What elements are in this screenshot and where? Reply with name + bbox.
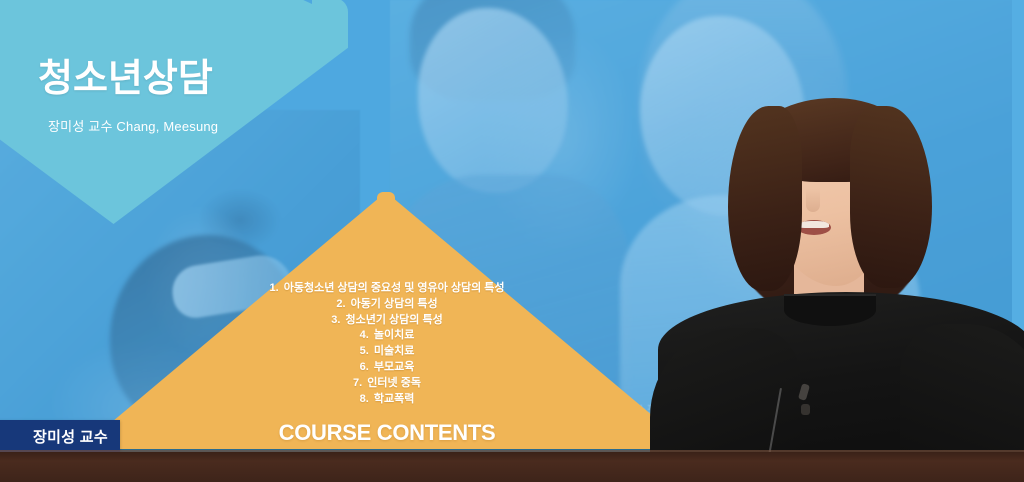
presenter-hair-left <box>728 106 802 291</box>
microphone-head <box>801 404 810 415</box>
course-contents-item-number: 1. <box>270 282 279 294</box>
course-contents-item: 8. 학교폭력 <box>232 392 542 408</box>
course-contents-heading: COURSE CONTENTS <box>232 420 542 446</box>
course-contents-item: 7. 인터넷 중독 <box>232 376 542 392</box>
course-contents-item-text: 아동청소년 상담의 중요성 및 영유아 상담의 특성 <box>281 282 505 294</box>
course-contents-item-number: 3. <box>331 314 340 326</box>
course-contents-item: 5. 미술치료 <box>232 344 542 360</box>
desk-surface <box>0 452 1024 482</box>
slide-title: 청소년상담 <box>38 57 213 101</box>
course-contents-item-number: 4. <box>360 329 369 341</box>
video-frame: 스포티이아? 겠음 청소년상담 장미성 교수 Chang, Meesung 1.… <box>0 0 1024 482</box>
course-contents-item-text: 인터넷 중독 <box>364 377 421 389</box>
course-contents-list: 1. 아동청소년 상담의 중요성 및 영유아 상담의 특성2. 아동기 상담의 … <box>232 281 542 407</box>
course-contents-item-text: 미술치료 <box>371 345 415 357</box>
instructor-name-banner: 장미성 교수 <box>0 420 120 453</box>
presenter-hair-right <box>850 106 932 288</box>
course-contents-item-number: 5. <box>360 345 369 357</box>
instructor-name-label: 장미성 교수 <box>33 426 108 447</box>
course-contents-item: 2. 아동기 상담의 특성 <box>232 297 542 313</box>
course-contents-item-text: 아동기 상담의 특성 <box>348 298 438 310</box>
presenter-nose <box>806 188 820 212</box>
course-contents-triangle-tip <box>377 192 395 208</box>
presenter-mouth <box>797 220 831 235</box>
course-contents-item: 6. 부모교육 <box>232 360 542 376</box>
slide-subtitle-instructor: 장미성 교수 Chang, Meesung <box>48 116 218 135</box>
course-contents-item-text: 부모교육 <box>371 361 415 373</box>
course-contents-item: 4. 놀이치료 <box>232 328 542 344</box>
course-contents-item-text: 놀이치료 <box>371 329 415 341</box>
course-contents-item-number: 8. <box>360 393 369 405</box>
course-contents-item-number: 7. <box>353 377 362 389</box>
course-contents-item-text: 학교폭력 <box>371 393 415 405</box>
course-contents-item-number: 2. <box>336 298 345 310</box>
course-contents-item: 3. 청소년기 상담의 특성 <box>232 313 542 329</box>
presenter-figure <box>676 96 1024 482</box>
presenter-teeth <box>799 221 829 228</box>
title-chevron-corner <box>312 0 348 34</box>
course-contents-item-number: 6. <box>360 361 369 373</box>
course-contents-item: 1. 아동청소년 상담의 중요성 및 영유아 상담의 특성 <box>232 281 542 297</box>
course-contents-item-text: 청소년기 상담의 특성 <box>342 314 442 326</box>
presenter-collar <box>784 294 876 326</box>
